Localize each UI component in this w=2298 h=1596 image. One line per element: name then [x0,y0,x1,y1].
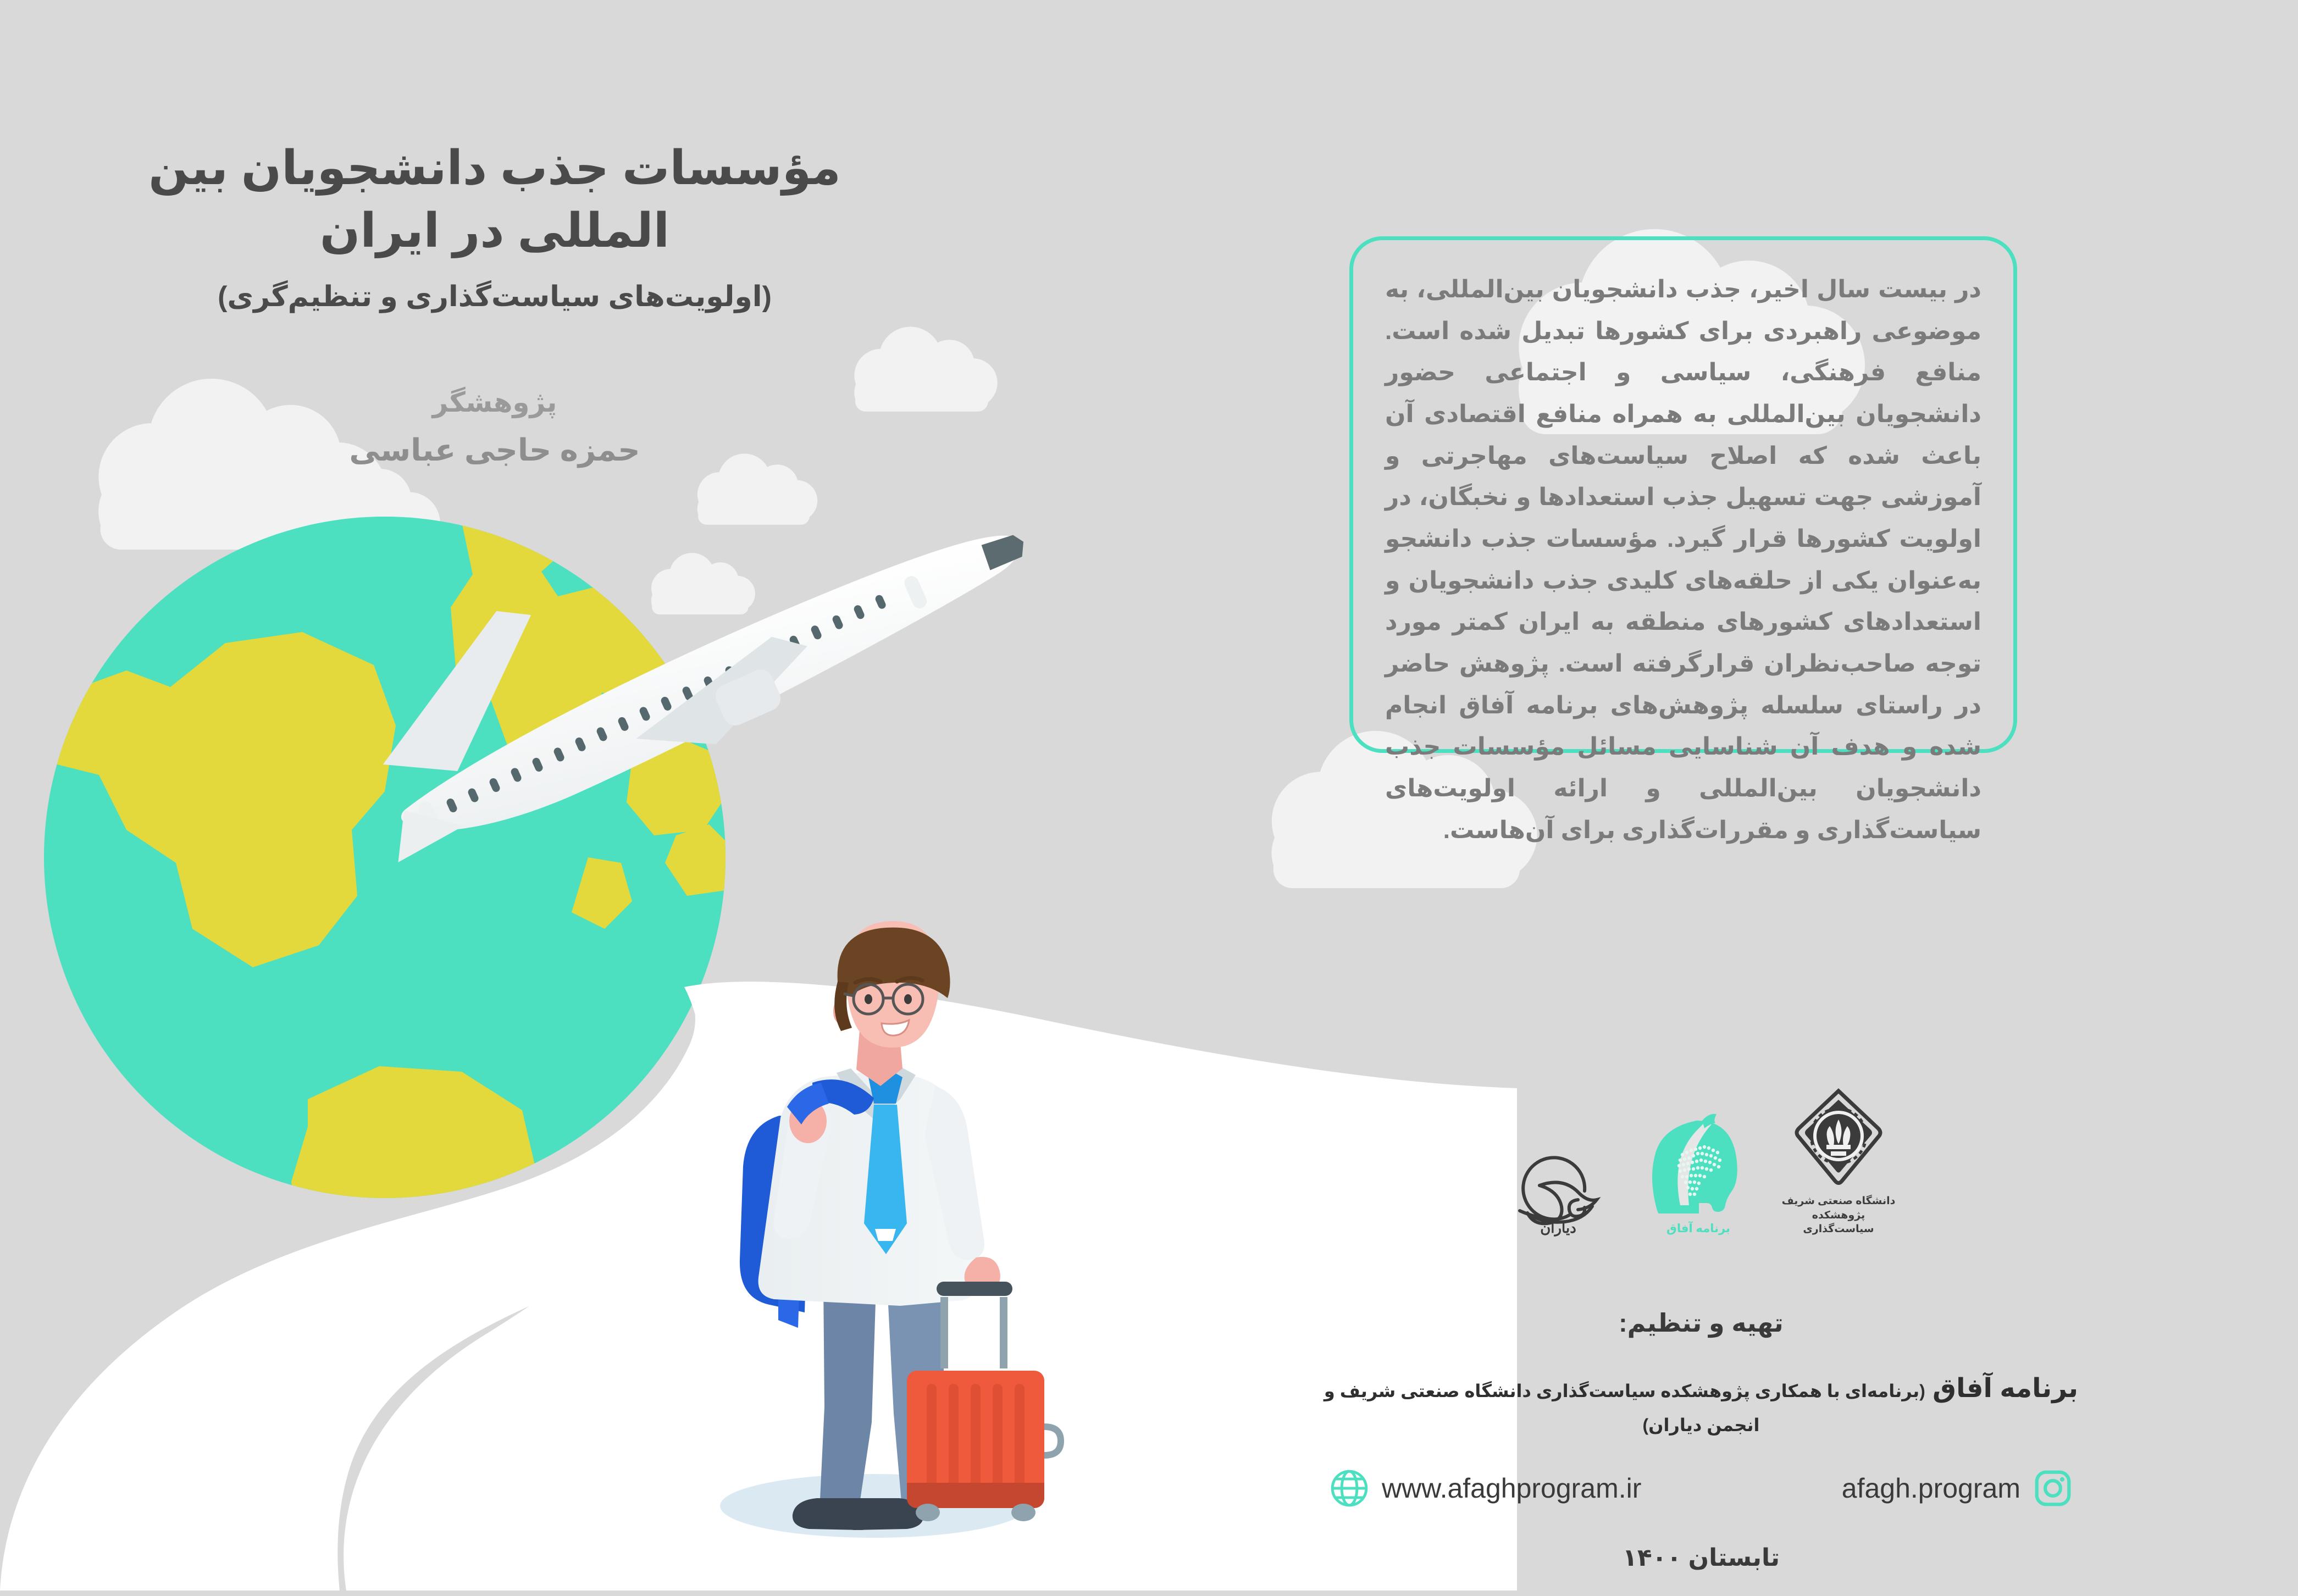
sharif-caption-line-2: پژوهشکده سیاست‌گذاری [1781,1209,1896,1237]
abstract-text: در بیست سال اخیر، جذب دانشجویان بین‌المل… [1385,269,1981,851]
website-contact[interactable]: www.afaghprogram.ir [1329,1468,1641,1509]
footer-org-name: برنامه آفاق [1932,1374,2078,1403]
footer-heading: تهیه و تنظیم: [1308,1308,2094,1338]
logo-sharif-policy-research-institute[interactable]: دانشگاه صنعتی شریف پژوهشکده سیاست‌گذاری [1781,1088,1896,1237]
logo-diaran-association[interactable]: دیاران [1500,1140,1616,1237]
page-subtitle: (اولویت‌های سیاست‌گذاری و تنظیم‌گری) [66,279,923,316]
footer-organization: برنامه آفاق (برنامه‌ای با همکاری پژوهشکد… [1308,1372,2094,1440]
logo-afagh-program[interactable]: برنامه آفاق [1641,1112,1756,1237]
afagh-head-globe-logo-icon [1652,1112,1745,1213]
footer: تهیه و تنظیم: برنامه آفاق (برنامه‌ای با … [1308,1308,2094,1596]
sharif-university-emblem-icon [1795,1088,1882,1187]
diaran-wordmark: دیاران [1540,1220,1576,1237]
eye [904,994,912,1004]
footer-org-note: (برنامه‌ای با همکاری پژوهشکده سیاست‌گذار… [1324,1381,1925,1435]
sharif-caption-line-1: دانشگاه صنعتی شریف [1781,1194,1896,1209]
website-url: www.afaghprogram.ir [1382,1472,1641,1504]
title-block: مؤسسات جذب دانشجویان بین المللی در ایران… [66,137,923,470]
diaran-bird-logo-icon: دیاران [1514,1140,1602,1237]
suitcase-wheel [1011,1504,1036,1521]
researcher-label: پژوهشگر [66,385,923,420]
afagh-caption-line-1: برنامه آفاق [1666,1221,1730,1237]
instagram-handle: afagh.program [1842,1472,2020,1504]
contact-row: www.afaghprogram.ir afagh.program [1308,1468,2094,1509]
globe-icon [1329,1468,1370,1509]
poster-canvas: مؤسسات جذب دانشجویان بین المللی در ایران… [0,0,2298,1591]
logo-caption-sharif: دانشگاه صنعتی شریف پژوهشکده سیاست‌گذاری [1781,1194,1896,1237]
instagram-icon [2033,1468,2073,1509]
partner-logos: دانشگاه صنعتی شریف پژوهشکده سیاست‌گذاری [1500,1055,1896,1237]
publication-date: تابستان ۱۴۰۰ [1308,1544,2094,1572]
abstract-card: در بیست سال اخیر، جذب دانشجویان بین‌المل… [1349,236,2017,753]
instagram-contact[interactable]: afagh.program [1842,1468,2073,1509]
author-name: حمزه حاجی عباسی [66,430,923,470]
logo-caption-afagh: برنامه آفاق [1666,1221,1730,1237]
eye [865,994,872,1004]
suitcase-wheel [916,1504,940,1521]
page-title: مؤسسات جذب دانشجویان بین المللی در ایران [66,137,923,262]
